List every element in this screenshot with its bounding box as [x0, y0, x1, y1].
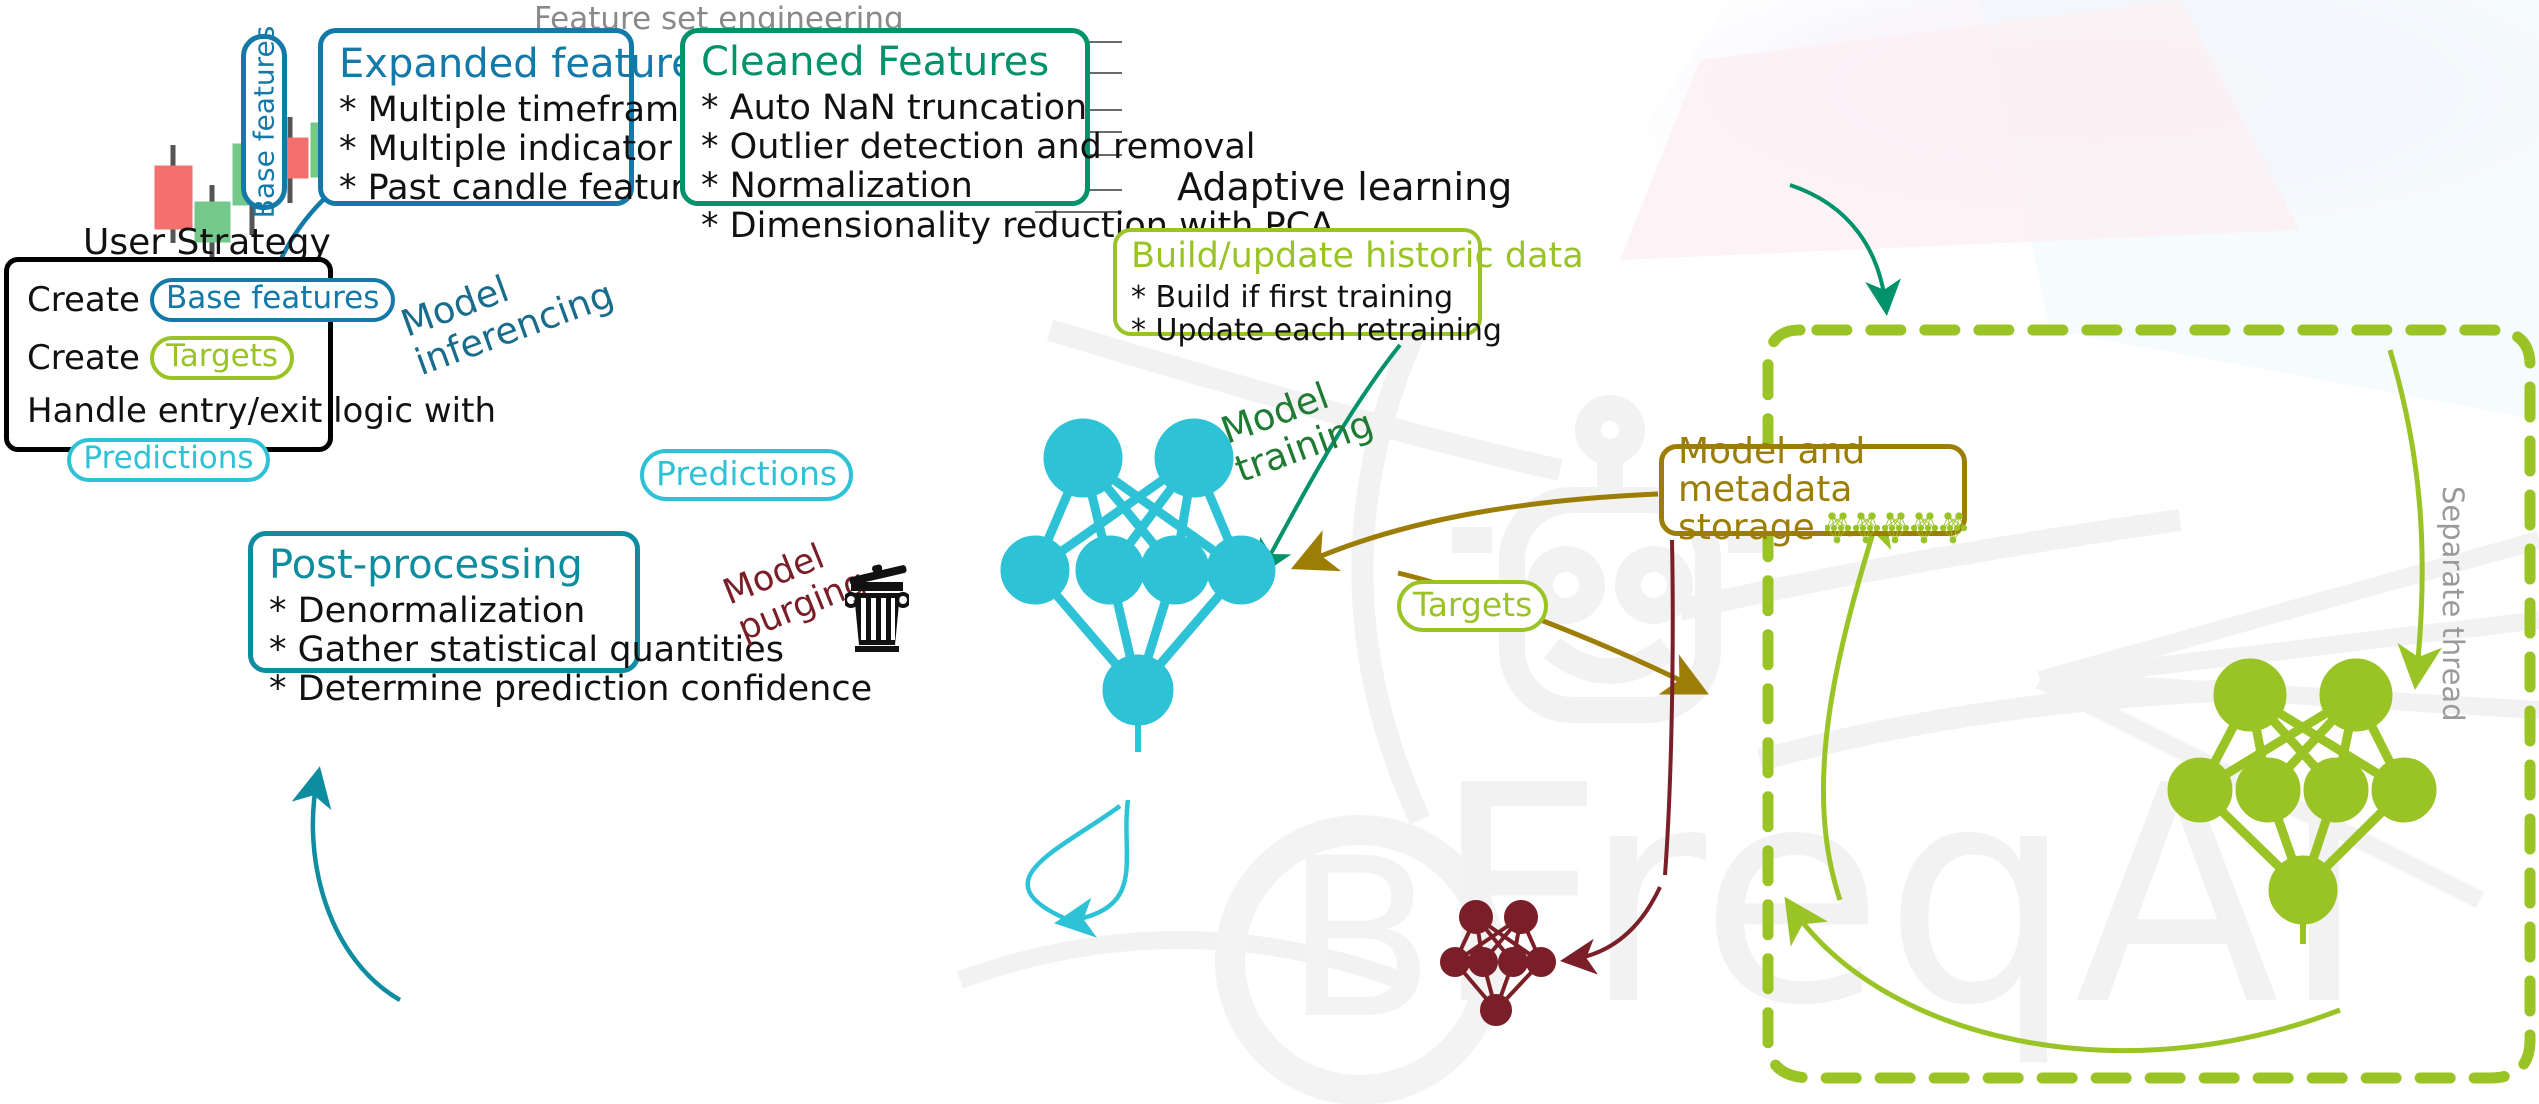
build-update-list: Build if first training Update each retr… [1131, 281, 1464, 348]
list-item: Dimensionality reduction with PCA [701, 207, 1069, 246]
arrow-pred-to-postbox [1063, 800, 1128, 922]
list-item: Multiple timeframes [339, 91, 613, 130]
arrow-storage-to-inference [1300, 494, 1658, 565]
arrow-cleaned-to-adaptive [1790, 185, 1886, 308]
expanded-features-title: Expanded features [339, 43, 613, 85]
arrow-storage-to-purge [1665, 540, 1673, 875]
entry-exit-logic-label: Handle entry/exit logic with [27, 394, 310, 428]
cleaned-features-list: Auto NaN truncation Outlier detection an… [701, 89, 1069, 246]
arrow-build-to-training [2390, 350, 2422, 680]
arrow-predictions-to-post [1028, 806, 1120, 918]
list-item: Auto NaN truncation [701, 89, 1069, 128]
diagram-canvas: B FreqAI [0, 0, 2539, 1104]
create-label-1: Create [27, 283, 140, 317]
user-strategy-box[interactable]: Create Base features Create Targets Hand… [4, 257, 333, 452]
base-features-pill-label: Base features [248, 26, 281, 219]
expanded-features-box[interactable]: Expanded features Multiple timeframes Mu… [318, 28, 634, 206]
predictions-inline-pill[interactable]: Predictions [67, 438, 269, 482]
arrow-predictions-to-post-2 [985, 800, 1130, 920]
stored-models-icon [1825, 511, 1985, 545]
create-label-2: Create [27, 341, 140, 375]
list-item: Multiple indicator periods [339, 130, 613, 169]
strategy-row-logic: Handle entry/exit logic with Predictions [27, 394, 310, 482]
strategy-row-base-features: Create Base features [27, 278, 310, 322]
build-update-historic-data-box[interactable]: Build/update historic data Build if firs… [1113, 228, 1482, 336]
cleaned-features-title: Cleaned Features [701, 41, 1069, 83]
arrow-training-to-storage [1790, 905, 2340, 1051]
expanded-features-list: Multiple timeframes Multiple indicator p… [339, 91, 613, 209]
targets-inline-pill[interactable]: Targets [150, 336, 294, 380]
list-item: Determine prediction confidence [269, 670, 619, 709]
arrow-storage-to-build [1823, 510, 1880, 900]
list-item: Build if first training [1131, 281, 1464, 315]
storage-text: Model and metadata storage [1664, 433, 1985, 546]
arrow-post-to-strategy [313, 775, 400, 1000]
targets-pill[interactable]: Targets [1397, 580, 1548, 632]
storage-line2: storage [1678, 509, 1815, 547]
list-item: Update each retraining [1131, 314, 1464, 348]
model-metadata-storage-box[interactable]: Model and metadata storage [1659, 444, 1967, 536]
list-item: Outlier detection and removal [701, 128, 1069, 167]
list-item: Gather statistical quantities [269, 631, 619, 670]
build-update-title: Build/update historic data [1131, 238, 1464, 275]
post-processing-list: Denormalization Gather statistical quant… [269, 592, 619, 710]
storage-line1: Model and metadata [1678, 433, 1985, 509]
inference-network [1005, 423, 1271, 721]
predictions-pill[interactable]: Predictions [640, 449, 853, 501]
cleaned-features-box[interactable]: Cleaned Features Auto NaN truncation Out… [680, 28, 1090, 206]
list-item: Past candle features [339, 169, 613, 208]
post-processing-title: Post-processing [269, 544, 619, 586]
purged-network [1442, 887, 1660, 1024]
strategy-row-targets: Create Targets [27, 336, 310, 380]
base-features-inline-pill[interactable]: Base features [150, 278, 395, 322]
training-network [2172, 663, 2432, 920]
base-features-pill[interactable]: Base features [241, 34, 287, 210]
list-item: Denormalization [269, 592, 619, 631]
list-item: Normalization [701, 167, 1069, 206]
post-processing-box[interactable]: Post-processing Denormalization Gather s… [248, 531, 640, 673]
